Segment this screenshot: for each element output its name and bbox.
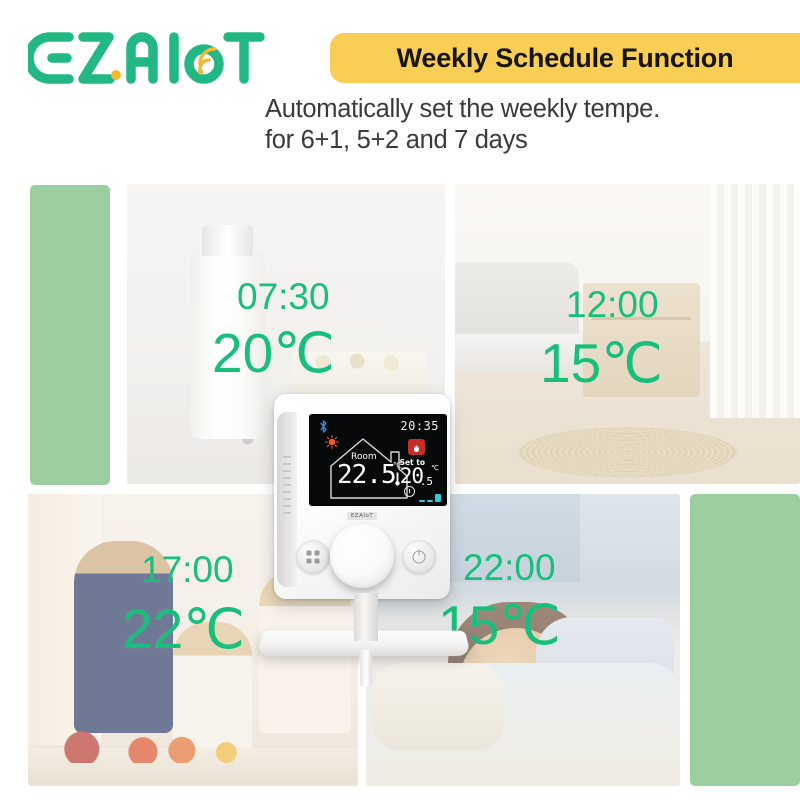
thermostat-body: 20:35 Room 22.5 ℃ Set xyxy=(274,394,450,599)
subtitle-line-1: Automatically set the weekly tempe. xyxy=(265,94,795,125)
lcd-set-unit: ℃ xyxy=(431,464,439,472)
heating-house-icon xyxy=(408,439,425,455)
page-subtitle: Automatically set the weekly tempe. for … xyxy=(265,94,795,156)
schedule-time-night: 22:00 xyxy=(463,549,556,586)
device-brand-chip: EZAIoT xyxy=(347,512,377,520)
power-icon xyxy=(413,551,426,564)
schedule-temp-morning: 20℃ xyxy=(212,326,335,381)
thermostat-vent xyxy=(283,456,291,518)
page-header: Weekly Schedule Function Automatically s… xyxy=(0,0,800,175)
thermostat-stand-neck xyxy=(354,593,378,641)
green-accent-bar-left xyxy=(30,185,110,485)
feature-banner: Weekly Schedule Function xyxy=(330,33,800,83)
bluetooth-icon xyxy=(319,420,328,436)
lcd-set-temperature-decimal: .5 xyxy=(420,475,433,488)
schedule-temp-midday: 15℃ xyxy=(540,336,663,391)
grid-menu-icon xyxy=(307,551,320,564)
green-accent-bar-right xyxy=(690,494,800,786)
subtitle-line-2: for 6+1, 5+2 and 7 days xyxy=(265,125,795,156)
thermostat-stand-post xyxy=(360,650,372,686)
menu-button[interactable] xyxy=(296,540,330,574)
power-button[interactable] xyxy=(402,540,436,574)
thermostat-lcd-screen: 20:35 Room 22.5 ℃ Set xyxy=(309,414,447,506)
schedule-time-midday: 12:00 xyxy=(566,286,659,323)
temperature-dial[interactable] xyxy=(330,524,394,588)
schedule-panel-midday: 12:00 15℃ xyxy=(455,184,800,484)
timer-icon xyxy=(404,486,415,497)
banner-title: Weekly Schedule Function xyxy=(397,43,734,74)
thermostat-device: 20:35 Room 22.5 ℃ Set xyxy=(258,388,473,688)
thermostat-side-panel xyxy=(277,412,297,587)
schedule-temp-evening: 22℃ xyxy=(122,602,245,657)
signal-bars-icon xyxy=(419,494,441,502)
schedule-time-evening: 17:00 xyxy=(141,551,234,588)
lcd-clock: 20:35 xyxy=(400,419,439,433)
schedule-time-morning: 07:30 xyxy=(237,278,330,315)
brand-logo xyxy=(28,28,268,86)
lcd-room-temperature: 22.5 xyxy=(337,462,396,488)
